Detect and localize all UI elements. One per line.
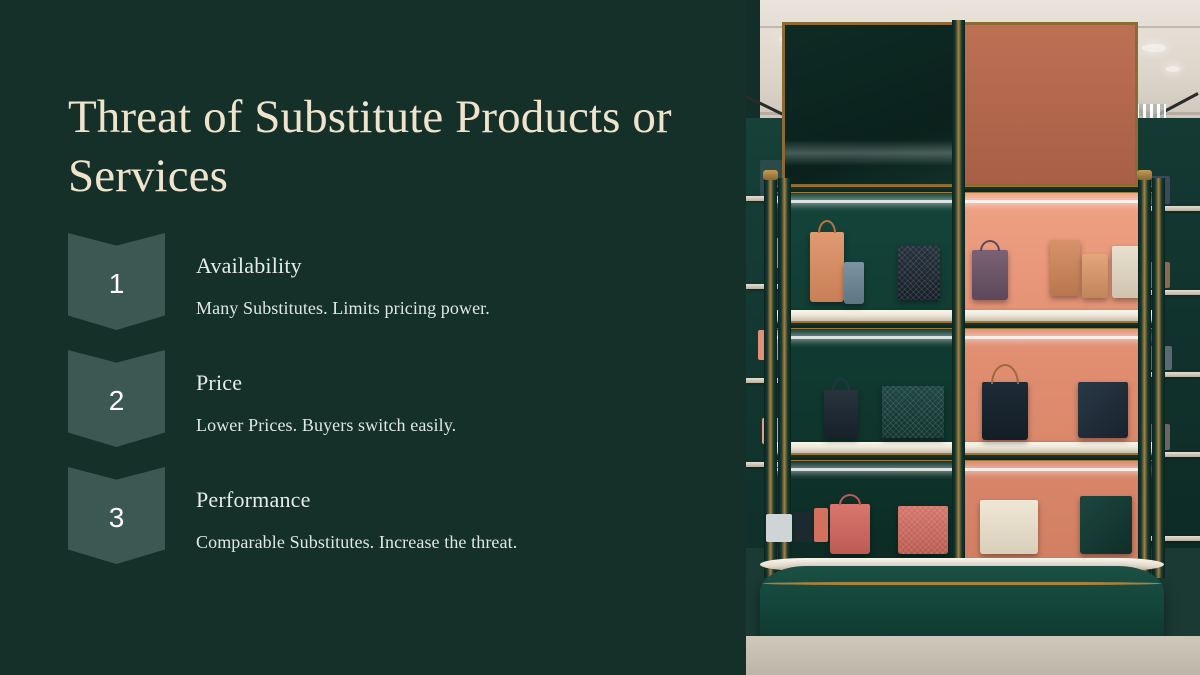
badge-chevron-2: 2 (68, 350, 165, 447)
badge-chevron-1: 1 (68, 233, 165, 330)
page-title: Threat of Substitute Products or Service… (68, 88, 708, 206)
item-text-block: Availability Many Substitutes. Limits pr… (196, 253, 716, 321)
handbag-darknavy-box (1078, 382, 1128, 438)
handbag-green-box-right (1080, 496, 1132, 554)
fixture-post (1138, 178, 1151, 578)
item-text-block: Performance Comparable Substitutes. Incr… (196, 487, 716, 555)
list-item: 3 Performance Comparable Substitutes. In… (0, 467, 746, 584)
base-brass-trim (762, 582, 1162, 585)
boutique-interior-photo (746, 0, 1200, 675)
item-heading: Price (196, 370, 716, 396)
handbag-rose-tote (830, 504, 870, 554)
item-description: Lower Prices. Buyers switch easily. (196, 414, 716, 437)
counter-product (814, 508, 828, 542)
fixture-post (1152, 178, 1165, 578)
item-heading: Availability (196, 253, 716, 279)
handbag-plum-tote (972, 250, 1008, 300)
numbered-item-list: 1 Availability Many Substitutes. Limits … (0, 233, 746, 584)
handbag-tan-tote-right (1082, 254, 1108, 298)
badge-number: 2 (109, 383, 125, 415)
counter-product (766, 514, 792, 542)
badge-number: 1 (109, 266, 125, 298)
handbag-navy-top-handle (824, 390, 858, 438)
header-green-sheen (785, 140, 960, 166)
list-item: 1 Availability Many Substitutes. Limits … (0, 233, 746, 350)
item-heading: Performance (196, 487, 716, 513)
handbag-navy-clutch (898, 246, 940, 300)
left-content-panel: Threat of Substitute Products or Service… (0, 0, 746, 675)
slide: Threat of Substitute Products or Service… (0, 0, 1200, 675)
counter-product (794, 512, 812, 542)
item-description: Comparable Substitutes. Increase the thr… (196, 531, 716, 554)
ceiling-spot (1166, 66, 1180, 72)
badge-number: 3 (109, 500, 125, 532)
badge-chevron-3: 3 (68, 467, 165, 564)
list-item: 2 Price Lower Prices. Buyers switch easi… (0, 350, 746, 467)
bag-texture (898, 506, 948, 554)
item-description: Many Substitutes. Limits pricing power. (196, 297, 716, 320)
fixture-post (952, 20, 965, 578)
bag-texture (882, 386, 944, 438)
handbag-slate-small (844, 262, 864, 304)
bag-texture (898, 246, 940, 300)
item-text-block: Price Lower Prices. Buyers switch easily… (196, 370, 716, 438)
post-cap (1137, 170, 1152, 180)
handbag-green-quilted (882, 386, 944, 438)
floor (746, 636, 1200, 675)
post-cap (763, 170, 778, 180)
handbag-tan-bucket (1050, 240, 1080, 296)
handbag-cream-envelope (980, 500, 1038, 554)
handbag-pink-quilted (898, 506, 948, 554)
header-salmon-panel (960, 25, 1135, 184)
handbag-tan-tote (810, 232, 844, 302)
central-display-fixture (782, 10, 1162, 650)
handbag-navy-shopper (982, 382, 1028, 440)
